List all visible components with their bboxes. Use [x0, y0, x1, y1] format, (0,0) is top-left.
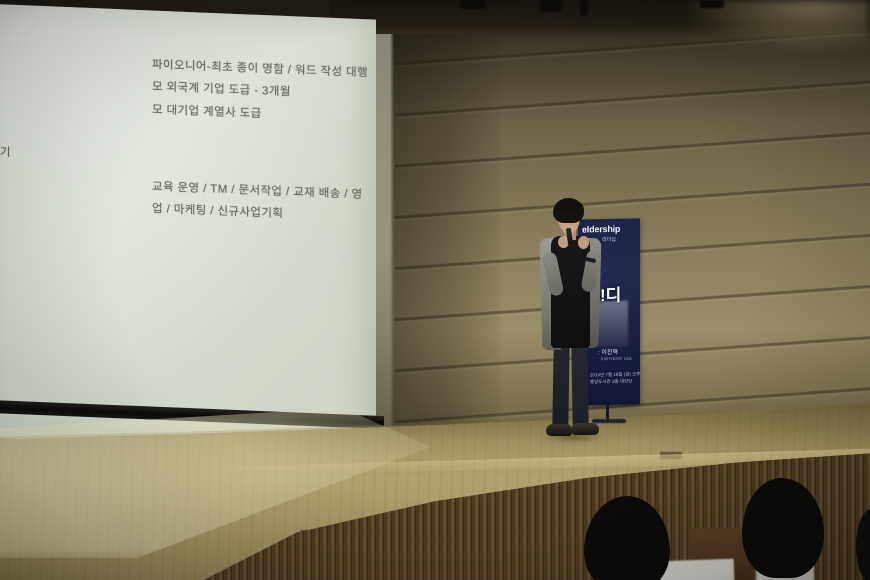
handout-paper — [660, 559, 735, 580]
banner-base — [592, 419, 626, 423]
banner-date-line: 2014년 7월 18일 (금) 오후 중앙도서관 3층 대강당 — [590, 370, 640, 385]
ceiling-fixture-icon — [580, 0, 588, 16]
slide-text-left-clipped: 아들어가기 던 일 — [0, 140, 11, 187]
lecture-hall-photo: 아들어가기 던 일 파이오니어-최초 종이 명함 / 워드 작성 대행 모 외국… — [0, 0, 870, 580]
banner-title: eldership — [582, 224, 620, 235]
ceiling-fixture-icon — [460, 0, 486, 9]
banner-photo — [598, 301, 628, 348]
slide-text-block-b: 교육 운영 / TM / 문서작업 / 교재 배송 / 영 업 / 마케팅 / … — [152, 176, 362, 229]
banner-speaker-name: : 이진혁 — [598, 347, 618, 356]
ceiling-fixture-icon — [700, 0, 724, 8]
banner-subtitle: 리더십 — [602, 236, 616, 243]
speaker-hair-fringe — [554, 199, 584, 214]
slide-text-block-a: 파이오니어-최초 종이 명함 / 워드 작성 대행 모 외국계 기업 도급 - … — [152, 54, 368, 130]
speaker-shoe-left — [546, 424, 572, 436]
speaker-hand-right — [578, 236, 589, 249]
ceiling-fixture-icon — [540, 0, 562, 12]
banner-headline: !디 — [600, 281, 621, 306]
banner-speaker-name-en: JINHYEOK LEE — [600, 356, 632, 362]
speaker-shoe-right — [572, 423, 599, 435]
speaker-leg-right — [571, 342, 588, 428]
speaker-leg-left — [552, 342, 569, 428]
